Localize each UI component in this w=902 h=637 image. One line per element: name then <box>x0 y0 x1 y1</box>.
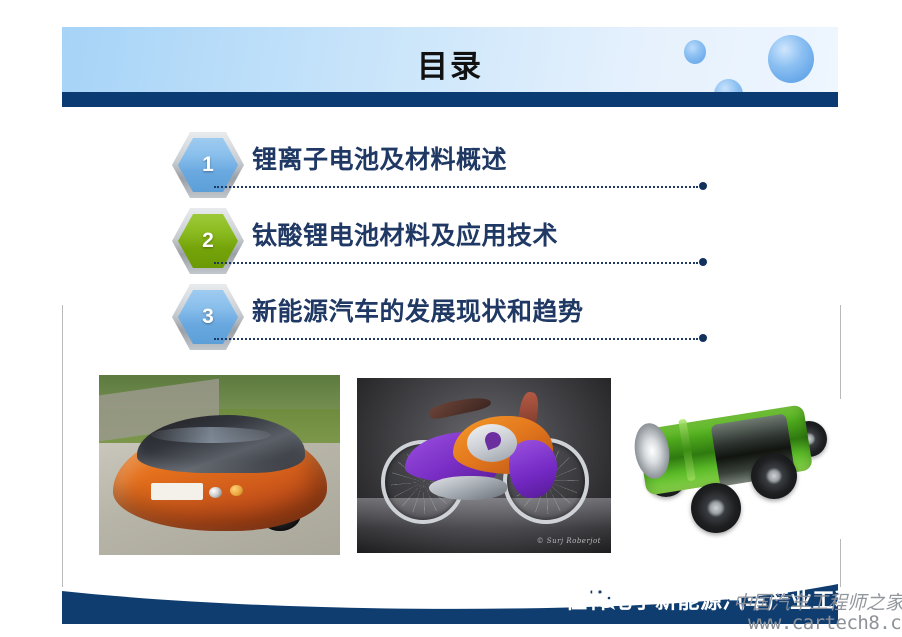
hexagon-badge-1: 1 <box>172 132 244 198</box>
watermark-url: www.cartech8.com <box>748 612 902 634</box>
toc-dotted-leader-2 <box>214 262 698 264</box>
toc-number-1: 1 <box>178 138 238 192</box>
car-headlamp-left <box>209 487 222 498</box>
toc-leader-dot-1 <box>699 182 707 190</box>
toc-number-3: 3 <box>178 290 238 344</box>
green-battery-on-wheels <box>623 399 846 539</box>
toc-label-3: 新能源汽车的发展现状和趋势 <box>252 292 584 328</box>
table-of-contents: 1 锂离子电池及材料概述 2 钛酸锂电池材料及应用技术 3 新能源汽车的发展现状… <box>0 128 902 356</box>
battery-wheel-2 <box>691 483 741 533</box>
toc-item-1[interactable]: 1 锂离子电池及材料概述 <box>0 128 902 204</box>
toc-label-1: 锂离子电池及材料概述 <box>252 140 507 176</box>
car-indicator-lamp <box>230 485 243 496</box>
presentation-slide: 目录 1 锂离子电池及材料概述 2 钛酸锂电池材料及应用技术 3 新能源汽车的发… <box>0 0 902 637</box>
hexagon-badge-3: 3 <box>172 284 244 350</box>
battery-wheel-3 <box>751 453 797 499</box>
toc-leader-dot-3 <box>699 334 707 342</box>
toc-item-2[interactable]: 2 钛酸锂电池材料及应用技术 <box>0 204 902 280</box>
concept-bicycle-render: © Surj Roberjot <box>357 378 611 553</box>
toc-dotted-leader-3 <box>214 338 698 340</box>
orange-electric-car-photo <box>99 375 340 555</box>
bike-signature: © Surj Roberjot <box>537 537 601 545</box>
toc-leader-dot-2 <box>699 258 707 266</box>
hexagon-badge-2: 2 <box>172 208 244 274</box>
bike-crank-arm <box>429 476 507 500</box>
page-title: 目录 <box>62 27 838 99</box>
car-windshield-highlight <box>151 427 271 443</box>
toc-number-2: 2 <box>178 214 238 268</box>
car-license-plate <box>151 483 203 500</box>
watermark-site-name: 中国汽车工程师之家 <box>733 588 902 615</box>
toc-item-3[interactable]: 3 新能源汽车的发展现状和趋势 <box>0 280 902 356</box>
toc-label-2: 钛酸锂电池材料及应用技术 <box>252 216 558 252</box>
toc-dotted-leader-1 <box>214 186 698 188</box>
